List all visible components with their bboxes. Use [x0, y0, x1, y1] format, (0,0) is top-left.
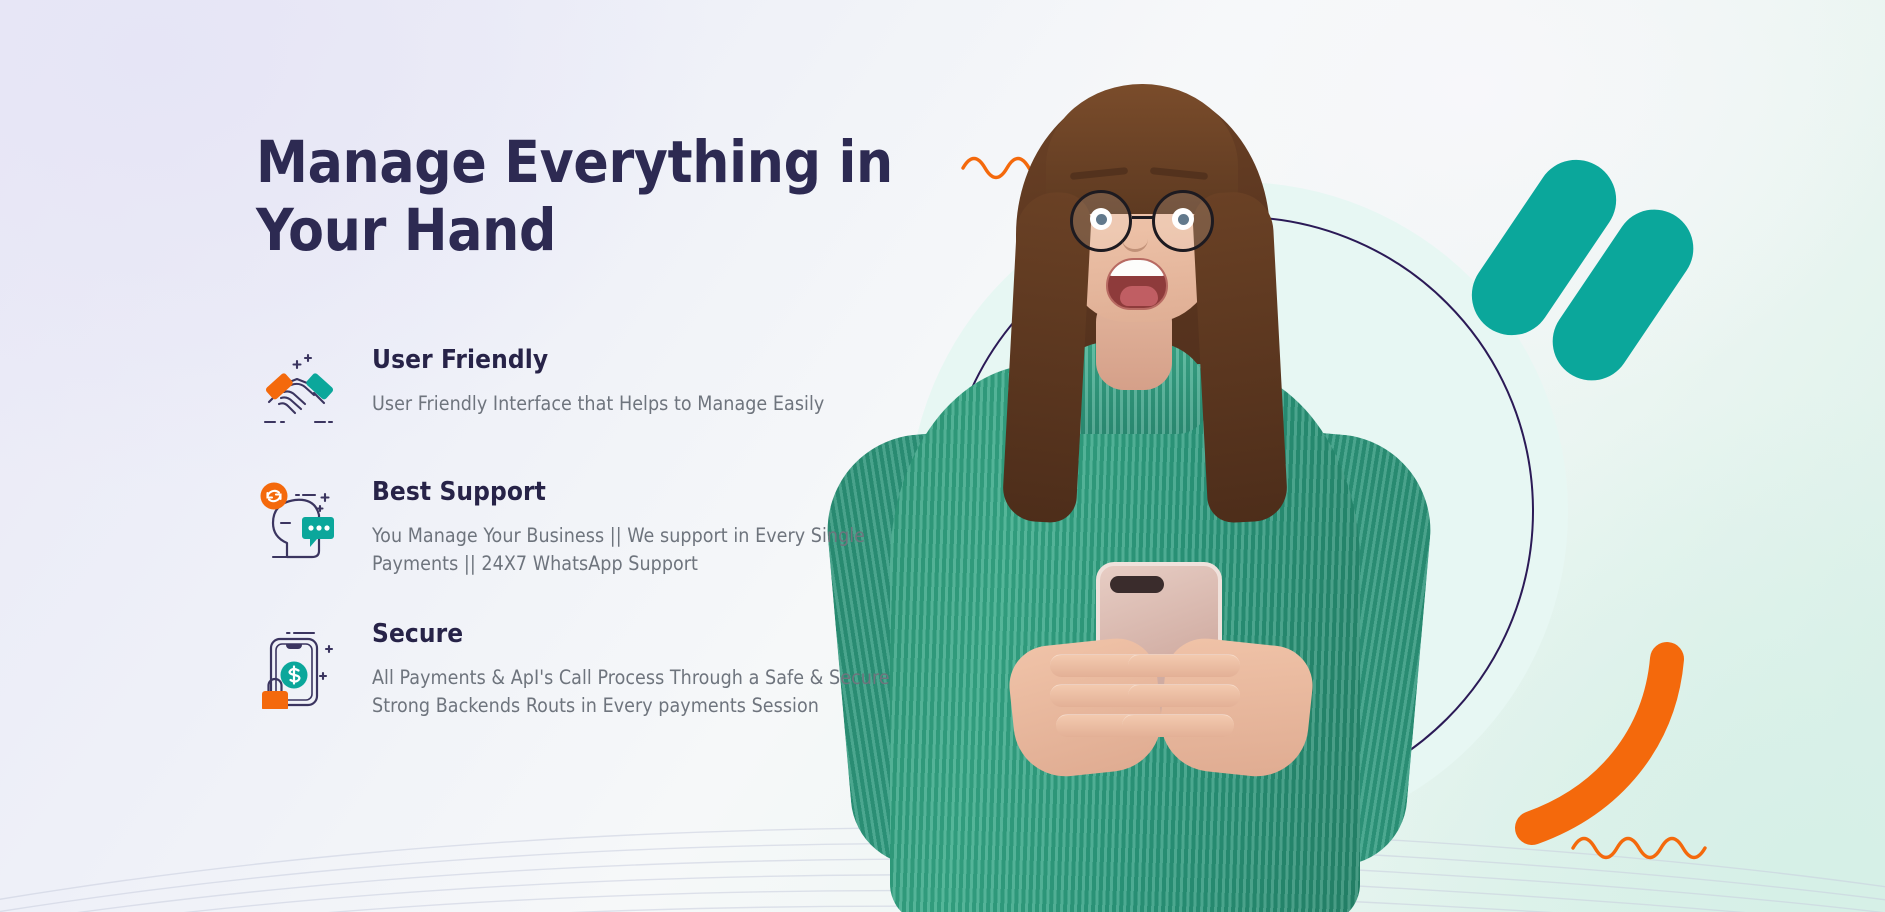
feature-item-user-friendly: User Friendly User Friendly Interface th…: [256, 343, 946, 435]
hero-section: Manage Everything in Your Hand: [0, 0, 1885, 912]
finger-right-2: [1128, 684, 1240, 707]
hair-top: [1046, 84, 1238, 214]
handshake-icon: [256, 343, 342, 435]
feature-title: Best Support: [372, 477, 865, 507]
feature-body: Secure All Payments & ApI's Call Process…: [372, 617, 890, 719]
finger-right-1: [1128, 654, 1240, 677]
feature-item-best-support: Best Support You Manage Your Business ||…: [256, 475, 946, 577]
feature-desc: User Friendly Interface that Helps to Ma…: [372, 390, 824, 418]
feature-desc: You Manage Your Business || We support i…: [372, 522, 865, 577]
feature-title: Secure: [372, 619, 890, 649]
teal-bar-2: [1538, 194, 1709, 395]
feature-body: Best Support You Manage Your Business ||…: [372, 475, 865, 577]
open-mouth: [1106, 258, 1168, 310]
illustration-area: [960, 0, 1885, 912]
finger-right-3: [1122, 714, 1234, 737]
feature-desc: All Payments & ApI's Call Process Throug…: [372, 664, 890, 719]
feature-list: User Friendly User Friendly Interface th…: [256, 343, 946, 720]
tongue: [1120, 286, 1158, 306]
eyeglass-bridge: [1132, 216, 1154, 219]
eyeglass-lens-right: [1152, 190, 1214, 252]
hero-content: Manage Everything in Your Hand: [256, 128, 946, 760]
feature-title: User Friendly: [372, 345, 824, 375]
phone-camera: [1110, 576, 1164, 593]
excited-woman-with-smartphone-photo: [900, 42, 1460, 912]
feature-body: User Friendly User Friendly Interface th…: [372, 343, 824, 418]
page-title: Manage Everything in Your Hand: [256, 128, 946, 265]
head-support-icon: [256, 475, 342, 567]
teeth: [1108, 260, 1166, 276]
secure-phone-lock-icon: [256, 617, 342, 709]
teal-bar-1: [1456, 144, 1631, 350]
feature-item-secure: Secure All Payments & ApI's Call Process…: [256, 617, 946, 719]
